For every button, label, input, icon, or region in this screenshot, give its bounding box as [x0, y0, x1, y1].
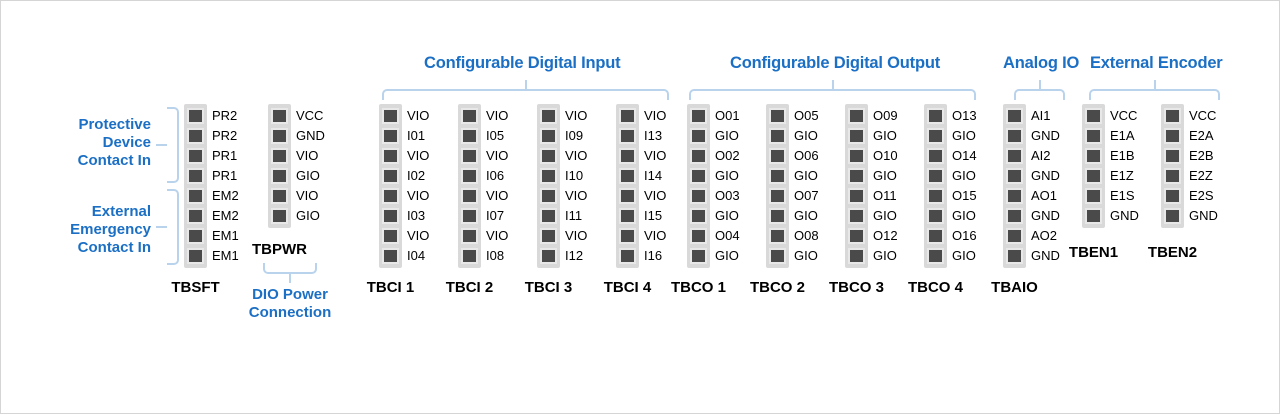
pin-terminal-icon[interactable]	[540, 148, 557, 164]
terminal-block-tbci-4[interactable]: VIOI13VIOI14VIOI15VIOI16	[616, 104, 639, 268]
pin-row[interactable]: E1B	[1082, 146, 1105, 166]
pin-row[interactable]: AI2	[1003, 146, 1026, 166]
pin-row[interactable]: VCC	[268, 106, 291, 126]
pin-terminal-icon[interactable]	[927, 228, 944, 244]
heading-analog-io: Analog IO	[1003, 54, 1079, 73]
pin-row[interactable]: GND	[1082, 206, 1105, 226]
pin-terminal-icon[interactable]	[927, 248, 944, 264]
pin-label: GND	[1110, 207, 1139, 225]
pin-terminal-icon[interactable]	[271, 128, 288, 144]
pin-terminal-icon[interactable]	[187, 148, 204, 164]
pin-label: O01	[715, 107, 740, 125]
pin-label: E2Z	[1189, 167, 1213, 185]
pin-row[interactable]: VIO	[616, 226, 639, 246]
pin-label: VIO	[407, 147, 429, 165]
pin-row[interactable]: EM1	[184, 226, 207, 246]
pin-row[interactable]: VCC	[1082, 106, 1105, 126]
pin-row[interactable]: AO2	[1003, 226, 1026, 246]
pin-terminal-icon[interactable]	[769, 228, 786, 244]
pin-terminal-icon[interactable]	[1085, 208, 1102, 224]
pin-terminal-icon[interactable]	[461, 148, 478, 164]
pin-label: O08	[794, 227, 819, 245]
pin-terminal-icon[interactable]	[619, 188, 636, 204]
pin-terminal-icon[interactable]	[769, 248, 786, 264]
caption-dio-power-connection: DIO Power Connection	[235, 286, 345, 322]
pin-label: O15	[952, 187, 977, 205]
pin-row[interactable]: GIO	[924, 206, 947, 226]
pin-terminal-icon[interactable]	[927, 208, 944, 224]
pin-label: AI2	[1031, 147, 1051, 165]
pin-terminal-icon[interactable]	[1006, 168, 1023, 184]
pin-label: GND	[1189, 207, 1218, 225]
pin-label: O06	[794, 147, 819, 165]
pin-label: I10	[565, 167, 583, 185]
pin-terminal-icon[interactable]	[187, 108, 204, 124]
pin-terminal-icon[interactable]	[619, 248, 636, 264]
pin-terminal-icon[interactable]	[382, 108, 399, 124]
pin-label: GIO	[715, 167, 739, 185]
emergency-line-1: External	[29, 203, 151, 221]
pin-row[interactable]: I05	[458, 126, 481, 146]
pin-row[interactable]: PR2	[184, 126, 207, 146]
pin-label: I08	[486, 247, 504, 265]
pin-terminal-icon[interactable]	[461, 208, 478, 224]
pin-row[interactable]: GND	[1003, 246, 1026, 266]
terminal-block-tbci-2[interactable]: VIOI05VIOI06VIOI07VIOI08	[458, 104, 481, 268]
pin-label: GIO	[794, 167, 818, 185]
pin-terminal-icon[interactable]	[848, 148, 865, 164]
pin-label: E1Z	[1110, 167, 1134, 185]
pin-terminal-icon[interactable]	[848, 168, 865, 184]
pin-row[interactable]: I09	[537, 126, 560, 146]
pin-terminal-icon[interactable]	[187, 168, 204, 184]
pin-row[interactable]: GIO	[924, 246, 947, 266]
pin-terminal-icon[interactable]	[690, 228, 707, 244]
pin-terminal-icon[interactable]	[461, 228, 478, 244]
pin-label: VIO	[644, 107, 666, 125]
pin-terminal-icon[interactable]	[619, 128, 636, 144]
pin-row[interactable]: E1Z	[1082, 166, 1105, 186]
pin-row[interactable]: O15	[924, 186, 947, 206]
bracket-digital-input	[382, 89, 669, 100]
pin-terminal-icon[interactable]	[1164, 108, 1181, 124]
terminal-block-tbci-1[interactable]: VIOI01VIOI02VIOI03VIOI04	[379, 104, 402, 268]
pin-row[interactable]: GIO	[845, 206, 868, 226]
pin-label: EM2	[212, 207, 239, 225]
pin-terminal-icon[interactable]	[1085, 148, 1102, 164]
pin-terminal-icon[interactable]	[540, 208, 557, 224]
pin-label: PR1	[212, 147, 237, 165]
pin-label: I11	[565, 207, 582, 225]
pin-row[interactable]: VIO	[379, 106, 402, 126]
pin-row[interactable]: GND	[268, 126, 291, 146]
terminal-block-tbco-4[interactable]: O13GIOO14GIOO15GIOO16GIO	[924, 104, 947, 268]
pin-terminal-icon[interactable]	[769, 128, 786, 144]
pin-terminal-icon[interactable]	[382, 248, 399, 264]
pin-row[interactable]: I04	[379, 246, 402, 266]
pin-row[interactable]: VIO	[537, 186, 560, 206]
pin-terminal-icon[interactable]	[690, 208, 707, 224]
pin-row[interactable]: E1A	[1082, 126, 1105, 146]
pin-terminal-icon[interactable]	[271, 168, 288, 184]
pin-label: VIO	[565, 147, 587, 165]
pin-label: VIO	[296, 147, 318, 165]
pin-terminal-icon[interactable]	[271, 148, 288, 164]
pin-row[interactable]: GIO	[766, 246, 789, 266]
pin-row[interactable]: I11	[537, 206, 560, 226]
pin-row[interactable]: E1S	[1082, 186, 1105, 206]
pin-row[interactable]: EM2	[184, 186, 207, 206]
pin-terminal-icon[interactable]	[769, 148, 786, 164]
pin-row[interactable]: VIO	[537, 106, 560, 126]
pin-terminal-icon[interactable]	[848, 108, 865, 124]
pin-row[interactable]: GIO	[766, 126, 789, 146]
pin-terminal-icon[interactable]	[848, 248, 865, 264]
pin-terminal-icon[interactable]	[382, 168, 399, 184]
pin-label: VIO	[407, 187, 429, 205]
pin-row[interactable]: E2Z	[1161, 166, 1184, 186]
pin-terminal-icon[interactable]	[540, 168, 557, 184]
pin-row[interactable]: O02	[687, 146, 710, 166]
pin-terminal-icon[interactable]	[769, 208, 786, 224]
pin-terminal-icon[interactable]	[690, 148, 707, 164]
pin-terminal-icon[interactable]	[187, 228, 204, 244]
pin-row[interactable]: GIO	[268, 166, 291, 186]
pin-row[interactable]: O04	[687, 226, 710, 246]
pin-label: VCC	[296, 107, 323, 125]
block-name-tbsft: TBSFT	[144, 279, 247, 296]
pin-row[interactable]: VIO	[379, 186, 402, 206]
bracket-external-encoder	[1089, 89, 1220, 100]
pin-label: E2A	[1189, 127, 1214, 145]
block-name-tbaio: TBAIO	[963, 279, 1066, 296]
pin-label: O16	[952, 227, 977, 245]
pin-label: O11	[873, 187, 897, 205]
pin-row[interactable]: I02	[379, 166, 402, 186]
pin-label: VIO	[644, 227, 666, 245]
heading-configurable-digital-input: Configurable Digital Input	[424, 54, 620, 73]
pin-terminal-icon[interactable]	[1085, 168, 1102, 184]
pin-terminal-icon[interactable]	[769, 168, 786, 184]
pin-terminal-icon[interactable]	[619, 108, 636, 124]
pin-label: GIO	[296, 167, 320, 185]
bracket-dio-power-connection	[263, 263, 317, 274]
pin-row[interactable]: O09	[845, 106, 868, 126]
pin-label: I15	[644, 207, 662, 225]
pin-row[interactable]: VIO	[458, 146, 481, 166]
pin-label: GIO	[952, 167, 976, 185]
pin-terminal-icon[interactable]	[1164, 148, 1181, 164]
pin-label: E1A	[1110, 127, 1135, 145]
pin-terminal-icon[interactable]	[1006, 248, 1023, 264]
pin-label: E1B	[1110, 147, 1135, 165]
pin-label: I12	[565, 247, 583, 265]
protective-line-2: Device	[41, 134, 151, 152]
pin-row[interactable]: I01	[379, 126, 402, 146]
pin-row[interactable]: O16	[924, 226, 947, 246]
pin-row[interactable]: GIO	[687, 126, 710, 146]
pin-row[interactable]: O07	[766, 186, 789, 206]
pin-terminal-icon[interactable]	[1006, 128, 1023, 144]
pin-label: GIO	[952, 207, 976, 225]
pin-row[interactable]: I08	[458, 246, 481, 266]
terminal-block-tben2[interactable]: VCCE2AE2BE2ZE2SGND	[1161, 104, 1184, 228]
pin-row[interactable]: VIO	[268, 146, 291, 166]
pin-label: O09	[873, 107, 898, 125]
pin-label: I16	[644, 247, 662, 265]
pin-row[interactable]: VIO	[458, 186, 481, 206]
pin-row[interactable]: VIO	[537, 146, 560, 166]
pin-terminal-icon[interactable]	[1085, 108, 1102, 124]
pin-row[interactable]: EM1	[184, 246, 207, 266]
bracket-stem	[156, 144, 167, 146]
terminal-block-tben1[interactable]: VCCE1AE1BE1ZE1SGND	[1082, 104, 1105, 228]
heading-external-encoder: External Encoder	[1090, 54, 1223, 73]
pin-terminal-icon[interactable]	[271, 208, 288, 224]
pin-row[interactable]: I13	[616, 126, 639, 146]
pin-row[interactable]: VIO	[379, 226, 402, 246]
dio-power-line-1: DIO Power	[235, 286, 345, 304]
pin-label: AO2	[1031, 227, 1057, 245]
protective-line-3: Contact In	[41, 152, 151, 170]
pin-row[interactable]: I14	[616, 166, 639, 186]
pin-row[interactable]: AO1	[1003, 186, 1026, 206]
pin-row[interactable]: O12	[845, 226, 868, 246]
pin-terminal-icon[interactable]	[769, 108, 786, 124]
terminal-block-tbci-3[interactable]: VIOI09VIOI10VIOI11VIOI12	[537, 104, 560, 268]
pin-row[interactable]: O06	[766, 146, 789, 166]
bracket-stem	[1154, 80, 1156, 91]
terminal-block-tbco-1[interactable]: O01GIOO02GIOO03GIOO04GIO	[687, 104, 710, 268]
pin-label: GND	[1031, 207, 1060, 225]
pin-row[interactable]: GIO	[687, 166, 710, 186]
pin-terminal-icon[interactable]	[848, 128, 865, 144]
pin-terminal-icon[interactable]	[382, 188, 399, 204]
pin-terminal-icon[interactable]	[1006, 108, 1023, 124]
pin-terminal-icon[interactable]	[690, 128, 707, 144]
pin-terminal-icon[interactable]	[927, 148, 944, 164]
pin-row[interactable]: VIO	[379, 146, 402, 166]
pin-terminal-icon[interactable]	[1164, 208, 1181, 224]
pin-row[interactable]: I07	[458, 206, 481, 226]
pin-label: AO1	[1031, 187, 1057, 205]
pin-terminal-icon[interactable]	[1006, 188, 1023, 204]
pin-row[interactable]: EM2	[184, 206, 207, 226]
pin-label: O07	[794, 187, 819, 205]
pin-row[interactable]: I12	[537, 246, 560, 266]
pin-terminal-icon[interactable]	[690, 168, 707, 184]
pin-terminal-icon[interactable]	[187, 248, 204, 264]
pin-row[interactable]: GIO	[924, 126, 947, 146]
pin-terminal-icon[interactable]	[461, 168, 478, 184]
pin-label: GIO	[715, 207, 739, 225]
pin-terminal-icon[interactable]	[461, 188, 478, 204]
bracket-stem	[832, 80, 834, 91]
emergency-line-2: Emergency	[29, 221, 151, 239]
pin-row[interactable]: VCC	[1161, 106, 1184, 126]
pin-row[interactable]: GIO	[845, 246, 868, 266]
pin-label: O03	[715, 187, 740, 205]
terminal-block-tbsft[interactable]: PR2PR2PR1PR1EM2EM2EM1EM1	[184, 104, 207, 268]
pin-terminal-icon[interactable]	[382, 148, 399, 164]
pin-label: E1S	[1110, 187, 1135, 205]
pin-row[interactable]: VIO	[268, 186, 291, 206]
pin-row[interactable]: GIO	[687, 206, 710, 226]
pin-terminal-icon[interactable]	[1164, 168, 1181, 184]
pin-terminal-icon[interactable]	[382, 228, 399, 244]
pin-terminal-icon[interactable]	[461, 128, 478, 144]
pin-terminal-icon[interactable]	[1085, 128, 1102, 144]
pin-label: O13	[952, 107, 977, 125]
pin-terminal-icon[interactable]	[690, 108, 707, 124]
pin-row[interactable]: O05	[766, 106, 789, 126]
pin-label: I07	[486, 207, 504, 225]
pin-label: VIO	[296, 187, 318, 205]
pin-row[interactable]: O10	[845, 146, 868, 166]
pin-terminal-icon[interactable]	[1006, 208, 1023, 224]
pin-label: E2B	[1189, 147, 1214, 165]
pin-row[interactable]: GND	[1003, 126, 1026, 146]
pin-row[interactable]: VIO	[616, 106, 639, 126]
protective-line-1: Protective	[41, 116, 151, 134]
pin-row[interactable]: E2B	[1161, 146, 1184, 166]
pin-row[interactable]: GIO	[845, 166, 868, 186]
pin-label: VIO	[486, 187, 508, 205]
pin-row[interactable]: PR1	[184, 146, 207, 166]
pin-row[interactable]: O14	[924, 146, 947, 166]
pin-terminal-icon[interactable]	[540, 228, 557, 244]
pin-row[interactable]: O03	[687, 186, 710, 206]
pin-terminal-icon[interactable]	[187, 188, 204, 204]
pin-row[interactable]: E2S	[1161, 186, 1184, 206]
pin-label: GIO	[794, 247, 818, 265]
pin-label: VIO	[644, 187, 666, 205]
pin-row[interactable]: VIO	[537, 226, 560, 246]
pin-terminal-icon[interactable]	[619, 148, 636, 164]
pin-row[interactable]: PR2	[184, 106, 207, 126]
pin-row[interactable]: I15	[616, 206, 639, 226]
pin-terminal-icon[interactable]	[461, 108, 478, 124]
pin-row[interactable]: VIO	[616, 186, 639, 206]
pin-row[interactable]: O08	[766, 226, 789, 246]
pin-label: GIO	[715, 127, 739, 145]
pin-terminal-icon[interactable]	[690, 248, 707, 264]
pin-terminal-icon[interactable]	[1006, 148, 1023, 164]
pin-terminal-icon[interactable]	[927, 108, 944, 124]
pin-row[interactable]: GIO	[687, 246, 710, 266]
pin-row[interactable]: I06	[458, 166, 481, 186]
pin-row[interactable]: I03	[379, 206, 402, 226]
pin-terminal-icon[interactable]	[690, 188, 707, 204]
pin-row[interactable]: GND	[1161, 206, 1184, 226]
pin-row[interactable]: O13	[924, 106, 947, 126]
pin-row[interactable]: GIO	[845, 126, 868, 146]
pin-row[interactable]: GIO	[766, 206, 789, 226]
pin-terminal-icon[interactable]	[848, 228, 865, 244]
bracket-stem	[1039, 80, 1041, 91]
pin-terminal-icon[interactable]	[927, 188, 944, 204]
dio-power-line-2: Connection	[235, 304, 345, 322]
pin-terminal-icon[interactable]	[271, 108, 288, 124]
pin-terminal-icon[interactable]	[540, 248, 557, 264]
pin-terminal-icon[interactable]	[382, 208, 399, 224]
pin-terminal-icon[interactable]	[927, 128, 944, 144]
pin-row[interactable]: GND	[1003, 206, 1026, 226]
pin-row[interactable]: GND	[1003, 166, 1026, 186]
pin-row[interactable]: O11	[845, 186, 868, 206]
pin-row[interactable]: VIO	[616, 146, 639, 166]
pin-label: GIO	[296, 207, 320, 225]
pin-row[interactable]: GIO	[268, 206, 291, 226]
pin-row[interactable]: I10	[537, 166, 560, 186]
pin-row[interactable]: GIO	[924, 166, 947, 186]
terminal-block-tbco-3[interactable]: O09GIOO10GIOO11GIOO12GIO	[845, 104, 868, 268]
pin-terminal-icon[interactable]	[382, 128, 399, 144]
pin-terminal-icon[interactable]	[619, 208, 636, 224]
pin-label: O04	[715, 227, 740, 245]
pin-label: GND	[1031, 167, 1060, 185]
terminal-block-tbaio[interactable]: AI1GNDAI2GNDAO1GNDAO2GND	[1003, 104, 1026, 268]
pin-terminal-icon[interactable]	[848, 208, 865, 224]
pin-label: VCC	[1110, 107, 1137, 125]
pin-terminal-icon[interactable]	[619, 228, 636, 244]
pin-row[interactable]: VIO	[458, 106, 481, 126]
pin-terminal-icon[interactable]	[461, 248, 478, 264]
pin-label: O05	[794, 107, 819, 125]
pin-row[interactable]: PR1	[184, 166, 207, 186]
pin-row[interactable]: GIO	[766, 166, 789, 186]
pin-row[interactable]: E2A	[1161, 126, 1184, 146]
label-external-emergency-contact-in: External Emergency Contact In	[29, 203, 151, 257]
pin-terminal-icon[interactable]	[619, 168, 636, 184]
pin-terminal-icon[interactable]	[1164, 188, 1181, 204]
pin-label: I09	[565, 127, 583, 145]
pin-terminal-icon[interactable]	[540, 108, 557, 124]
pin-label: O10	[873, 147, 898, 165]
pin-terminal-icon[interactable]	[769, 188, 786, 204]
pin-terminal-icon[interactable]	[1085, 188, 1102, 204]
pin-label: I06	[486, 167, 504, 185]
pin-terminal-icon[interactable]	[187, 128, 204, 144]
pin-label: O14	[952, 147, 977, 165]
pin-terminal-icon[interactable]	[927, 168, 944, 184]
pin-row[interactable]: AI1	[1003, 106, 1026, 126]
pin-terminal-icon[interactable]	[1164, 128, 1181, 144]
pin-terminal-icon[interactable]	[271, 188, 288, 204]
pin-label: VIO	[565, 107, 587, 125]
pin-label: VIO	[565, 187, 587, 205]
pin-label: EM2	[212, 187, 239, 205]
pin-terminal-icon[interactable]	[187, 208, 204, 224]
terminal-block-tbco-2[interactable]: O05GIOO06GIOO07GIOO08GIO	[766, 104, 789, 268]
pin-label: GIO	[873, 247, 897, 265]
pin-label: I03	[407, 207, 425, 225]
pin-label: VIO	[486, 227, 508, 245]
pin-terminal-icon[interactable]	[1006, 228, 1023, 244]
emergency-line-3: Contact In	[29, 239, 151, 257]
bracket-analog-io	[1014, 89, 1065, 100]
pin-label: AI1	[1031, 107, 1051, 125]
pin-label: GIO	[952, 127, 976, 145]
pin-row[interactable]: VIO	[458, 226, 481, 246]
pin-terminal-icon[interactable]	[540, 128, 557, 144]
pin-label: I01	[407, 127, 425, 145]
pin-row[interactable]: O01	[687, 106, 710, 126]
terminal-block-tbpwr[interactable]: VCCGNDVIOGIOVIOGIO	[268, 104, 291, 228]
pin-row[interactable]: I16	[616, 246, 639, 266]
pin-terminal-icon[interactable]	[848, 188, 865, 204]
pin-terminal-icon[interactable]	[540, 188, 557, 204]
